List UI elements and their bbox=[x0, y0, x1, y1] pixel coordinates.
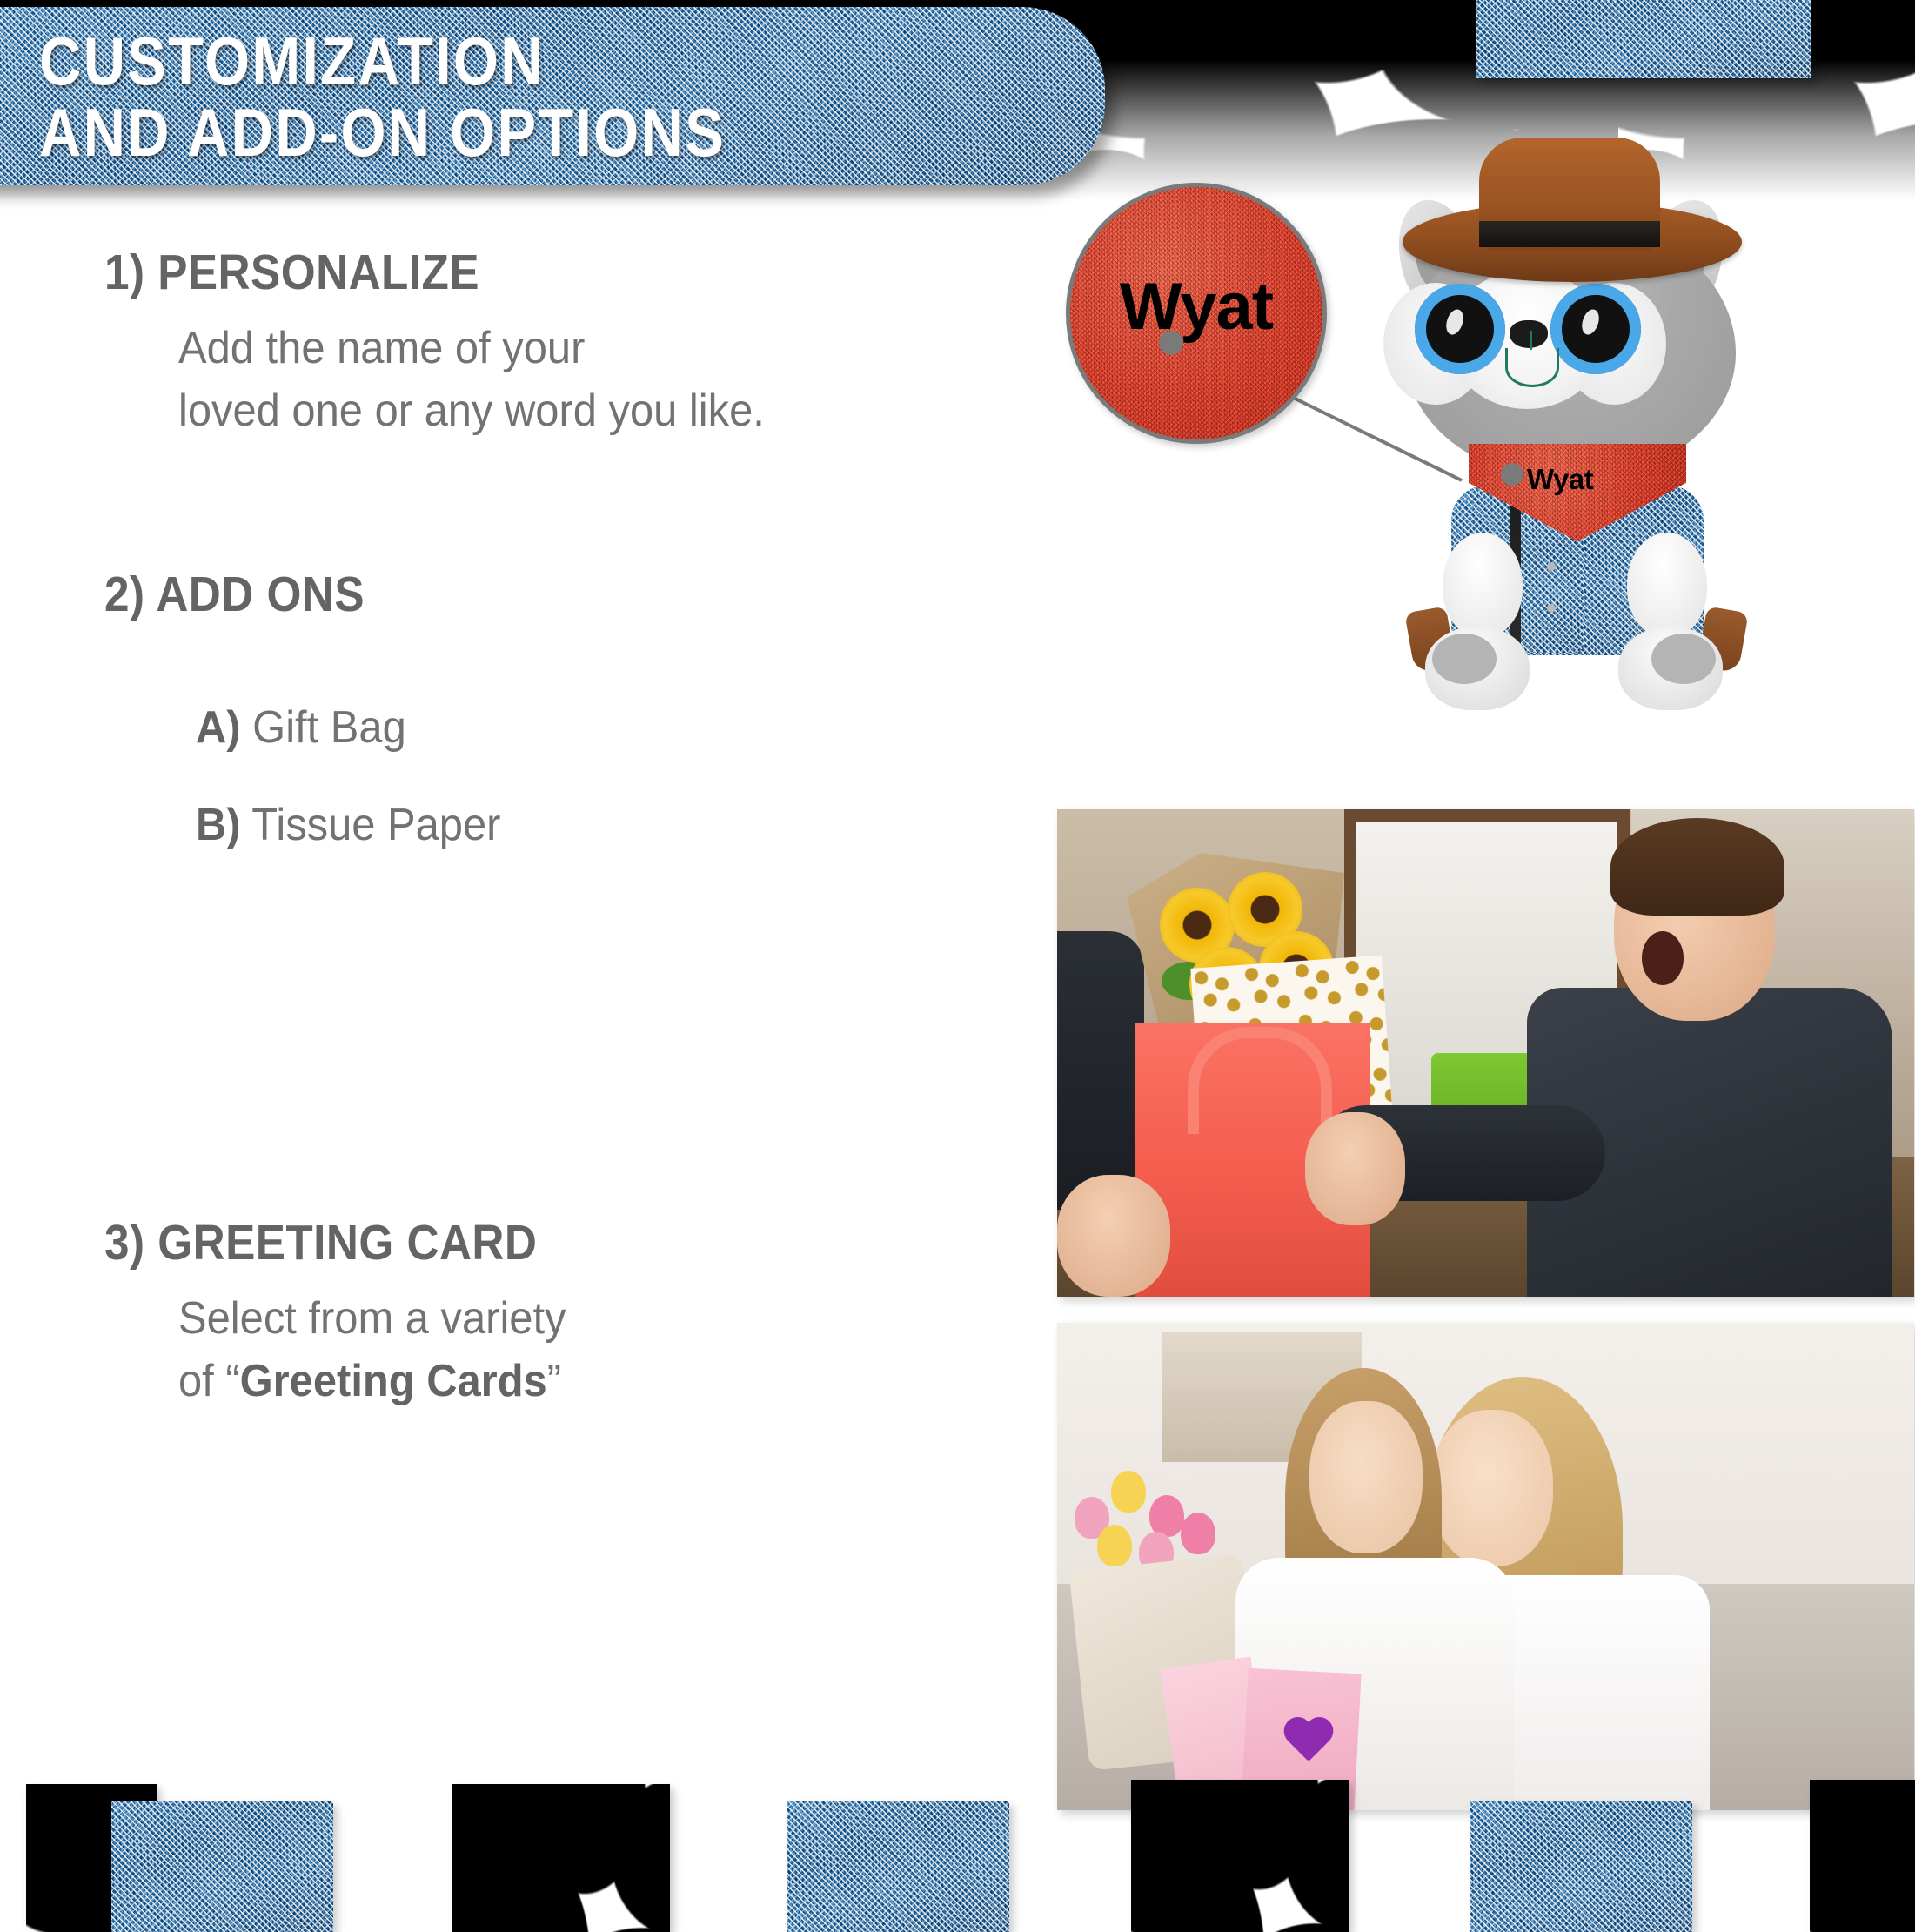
step-3-title: 3) GREETING CARD bbox=[104, 1214, 958, 1271]
husky-plush-toy: Wyat bbox=[1357, 157, 1792, 714]
plush-toy-illustration: Wyat bbox=[1053, 157, 1915, 731]
step-1-title: 1) PERSONALIZE bbox=[104, 244, 958, 301]
addon-option-tissue-paper: B) Tissue Paper bbox=[196, 797, 1001, 853]
header-title-line-2: AND ADD-ON OPTIONS bbox=[39, 97, 956, 168]
cow-print-tile-3 bbox=[1131, 1780, 1349, 1932]
bottom-decorative-border bbox=[0, 1775, 1915, 1915]
plush-foot-left bbox=[1425, 627, 1530, 710]
photo-gift-bag bbox=[1057, 809, 1914, 1297]
step-3-quote-close: ” bbox=[547, 1356, 561, 1406]
cow-print-tile-4 bbox=[1810, 1780, 1915, 1932]
step-greeting-card: 3) GREETING CARD Select from a variety o… bbox=[0, 1214, 1053, 1412]
step-1-body-line-2: loved one or any word you like. bbox=[178, 379, 1001, 442]
header-title-line-1: CUSTOMIZATION bbox=[39, 25, 956, 97]
step-personalize: 1) PERSONALIZE Add the name of your love… bbox=[0, 244, 1053, 442]
bandana-anchor-dot bbox=[1501, 463, 1523, 486]
plush-mouth bbox=[1505, 348, 1559, 387]
steps-column: 1) PERSONALIZE Add the name of your love… bbox=[0, 218, 1053, 1697]
step-3-body-line-2: of “Greeting Cards” bbox=[178, 1350, 1001, 1412]
step-add-ons: 2) ADD ONS A) Gift Bag B) Tissue Paper bbox=[0, 566, 1053, 853]
denim-tile-1 bbox=[111, 1801, 333, 1932]
zoom-anchor-dot bbox=[1159, 331, 1183, 355]
denim-patch-top-right bbox=[1476, 0, 1811, 78]
denim-tile-2 bbox=[787, 1801, 1009, 1932]
bandana-embroidered-name: Wyat bbox=[1527, 463, 1593, 496]
step-3-quote-open: of “ bbox=[178, 1356, 240, 1406]
addon-a-letter: A) bbox=[196, 702, 241, 753]
step-3-body-line-1: Select from a variety bbox=[178, 1287, 1001, 1350]
plush-eye-left bbox=[1415, 284, 1505, 374]
addon-a-label: Gift Bag bbox=[252, 702, 406, 753]
step-2-title: 2) ADD ONS bbox=[104, 566, 958, 623]
step-3-greeting-cards-emphasis: Greeting Cards bbox=[240, 1356, 547, 1406]
photo-greeting-card bbox=[1057, 1323, 1914, 1810]
addon-b-label: Tissue Paper bbox=[251, 800, 500, 850]
plush-nose bbox=[1510, 320, 1548, 348]
addon-option-gift-bag: A) Gift Bag bbox=[196, 700, 1001, 755]
plush-paw-right bbox=[1627, 533, 1707, 637]
name-zoom-circle: Wyat bbox=[1066, 183, 1327, 444]
addon-b-letter: B) bbox=[196, 800, 241, 850]
denim-tile-3 bbox=[1470, 1801, 1692, 1932]
step-3-body: Select from a variety of “Greeting Cards… bbox=[178, 1287, 1001, 1412]
cow-print-tile-2 bbox=[452, 1784, 670, 1932]
step-1-body-line-1: Add the name of your bbox=[178, 317, 1001, 379]
plush-eye-right bbox=[1550, 284, 1641, 374]
cowboy-hat-band bbox=[1479, 221, 1660, 247]
plush-foot-right bbox=[1618, 627, 1723, 710]
plush-paw-left bbox=[1443, 533, 1523, 637]
heart-icon bbox=[1282, 1719, 1336, 1768]
name-zoom-text: Wyat bbox=[1120, 269, 1273, 345]
header-banner: CUSTOMIZATION AND ADD-ON OPTIONS bbox=[0, 7, 1105, 185]
step-1-body: Add the name of your loved one or any wo… bbox=[178, 317, 1001, 442]
